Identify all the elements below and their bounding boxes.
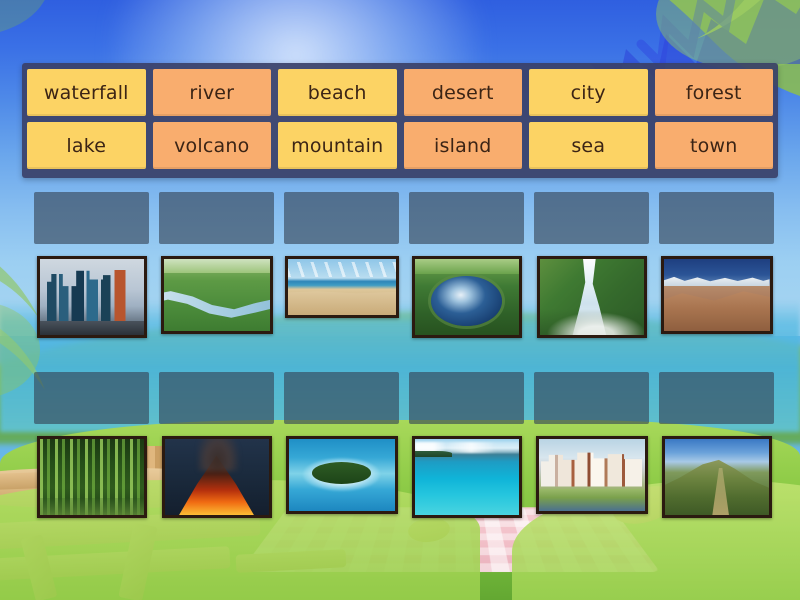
word-tile-bank: waterfall river beach desert city forest… (22, 63, 778, 178)
drop-slot-volcano[interactable] (159, 372, 274, 424)
drop-slot-desert[interactable] (659, 192, 774, 244)
match-cell-mountain (659, 372, 774, 518)
match-cell-island (284, 372, 399, 518)
drop-row-2 (34, 372, 774, 518)
image-holder (34, 256, 149, 338)
match-cell-lake (409, 192, 524, 338)
match-cell-forest (34, 372, 149, 518)
picture-desert[interactable] (661, 256, 773, 334)
word-tile-city[interactable]: city (529, 69, 648, 116)
match-cell-river (159, 192, 274, 338)
picture-volcano[interactable] (162, 436, 272, 518)
word-tile-desert[interactable]: desert (404, 69, 523, 116)
image-holder (284, 256, 399, 318)
tile-row-1: waterfall river beach desert city forest (27, 69, 773, 116)
drop-slot-mountain[interactable] (659, 372, 774, 424)
drop-slot-sea[interactable] (409, 372, 524, 424)
drop-slot-lake[interactable] (409, 192, 524, 244)
drop-row-1 (34, 192, 774, 338)
match-cell-sea (409, 372, 524, 518)
drop-slot-city[interactable] (34, 192, 149, 244)
image-holder (34, 436, 149, 518)
picture-sea[interactable] (412, 436, 522, 518)
word-tile-beach[interactable]: beach (278, 69, 397, 116)
word-tile-island[interactable]: island (404, 122, 523, 169)
word-tile-town[interactable]: town (655, 122, 774, 169)
word-tile-waterfall[interactable]: waterfall (27, 69, 146, 116)
picture-beach[interactable] (285, 256, 399, 318)
picture-city[interactable] (37, 256, 147, 338)
image-holder (659, 436, 774, 518)
word-tile-forest[interactable]: forest (655, 69, 774, 116)
drop-slot-town[interactable] (534, 372, 649, 424)
picture-lake[interactable] (412, 256, 522, 338)
match-cell-town (534, 372, 649, 518)
image-holder (534, 436, 649, 514)
word-tile-river[interactable]: river (153, 69, 272, 116)
image-holder (284, 436, 399, 514)
word-tile-mountain[interactable]: mountain (278, 122, 397, 169)
match-cell-desert (659, 192, 774, 338)
drop-slot-river[interactable] (159, 192, 274, 244)
image-holder (159, 436, 274, 518)
picture-river[interactable] (161, 256, 273, 334)
word-tile-lake[interactable]: lake (27, 122, 146, 169)
drop-slot-forest[interactable] (34, 372, 149, 424)
picture-forest[interactable] (37, 436, 147, 518)
match-cell-waterfall (534, 192, 649, 338)
match-cell-volcano (159, 372, 274, 518)
picture-town[interactable] (536, 436, 648, 514)
word-tile-sea[interactable]: sea (529, 122, 648, 169)
image-holder (534, 256, 649, 338)
picture-mountain[interactable] (662, 436, 772, 518)
match-cell-beach (284, 192, 399, 338)
drop-slot-waterfall[interactable] (534, 192, 649, 244)
picture-waterfall[interactable] (537, 256, 647, 338)
drop-slot-island[interactable] (284, 372, 399, 424)
image-holder (659, 256, 774, 334)
drop-slot-beach[interactable] (284, 192, 399, 244)
image-holder (409, 436, 524, 518)
tile-row-2: lake volcano mountain island sea town (27, 122, 773, 169)
match-cell-city (34, 192, 149, 338)
image-holder (159, 256, 274, 334)
image-holder (409, 256, 524, 338)
word-tile-volcano[interactable]: volcano (153, 122, 272, 169)
picture-island[interactable] (286, 436, 398, 514)
